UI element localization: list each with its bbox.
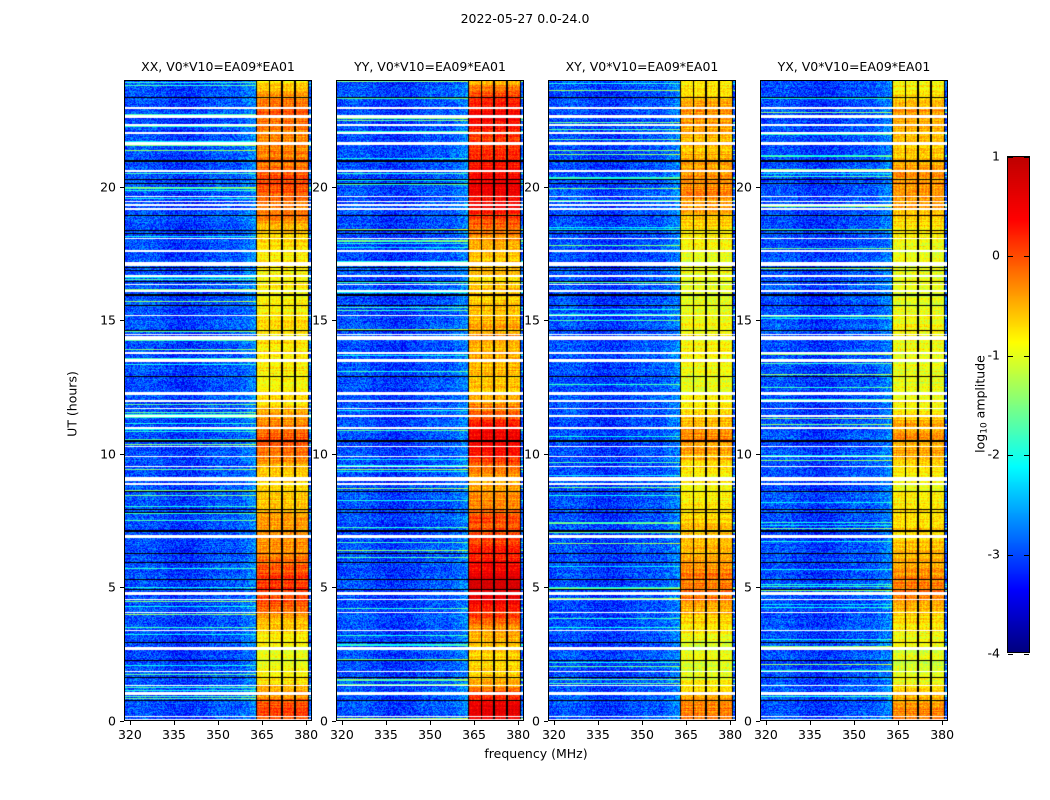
- y-tick-label: 10: [100, 446, 116, 461]
- x-tick-mark: [174, 721, 175, 725]
- colorbar-tick-mark: [1024, 356, 1029, 357]
- x-tick-mark: [598, 721, 599, 725]
- x-tick-mark: [386, 721, 387, 725]
- colorbar-tick-mark: [1008, 555, 1013, 556]
- x-tick-mark: [554, 721, 555, 725]
- panel-title-xy: XY, V0*V10=EA09*EA01: [548, 59, 736, 74]
- x-tick-mark: [686, 721, 687, 725]
- y-tick-label: 20: [100, 179, 116, 194]
- colorbar-tick-label: 0: [992, 248, 1000, 263]
- y-tick-mark: [756, 587, 760, 588]
- x-tick-mark: [766, 721, 767, 725]
- colorbar-tick-mark: [1024, 256, 1029, 257]
- panel-title-yx: YX, V0*V10=EA09*EA01: [760, 59, 948, 74]
- colorbar-tick-mark: [1008, 455, 1013, 456]
- y-tick-mark: [756, 454, 760, 455]
- colorbar: [1007, 156, 1030, 653]
- colorbar-tick-mark: [1008, 157, 1013, 158]
- y-tick-label: 5: [320, 580, 328, 595]
- panel-xx: XX, V0*V10=EA09*EA01 3203353503653800510…: [124, 80, 312, 721]
- colorbar-tick-label: 1: [992, 149, 1000, 164]
- x-tick-mark: [642, 721, 643, 725]
- axes-frame-xy: [548, 80, 736, 721]
- y-tick-label: 20: [736, 179, 752, 194]
- figure-canvas-area: 2022-05-27 0.0-24.0 XX, V0*V10=EA09*EA01…: [0, 0, 1050, 800]
- y-tick-mark: [120, 454, 124, 455]
- y-tick-label: 0: [744, 714, 752, 729]
- y-tick-mark: [332, 587, 336, 588]
- axes-frame-yy: [336, 80, 524, 721]
- y-tick-mark: [332, 454, 336, 455]
- y-tick-mark: [544, 721, 548, 722]
- colorbar-tick-mark: [1024, 555, 1029, 556]
- y-tick-label: 15: [736, 313, 752, 328]
- panel-title-xx: XX, V0*V10=EA09*EA01: [124, 59, 312, 74]
- x-tick-mark: [262, 721, 263, 725]
- colorbar-tick-label: -1: [988, 347, 1000, 362]
- colorbar-tick-label: -2: [988, 447, 1000, 462]
- y-tick-mark: [544, 187, 548, 188]
- y-tick-mark: [332, 721, 336, 722]
- x-tick-mark: [342, 721, 343, 725]
- y-tick-mark: [544, 454, 548, 455]
- x-tick-mark: [898, 721, 899, 725]
- panel-yy: YY, V0*V10=EA09*EA01 3203353503653800510…: [336, 80, 524, 721]
- y-tick-mark: [332, 187, 336, 188]
- figure-suptitle: 2022-05-27 0.0-24.0: [0, 11, 1050, 26]
- panel-title-yy: YY, V0*V10=EA09*EA01: [336, 59, 524, 74]
- y-tick-label: 0: [532, 714, 540, 729]
- y-tick-label: 10: [524, 446, 540, 461]
- y-tick-label: 5: [744, 580, 752, 595]
- colorbar-tick-label: -4: [988, 646, 1000, 661]
- colorbar-tick-mark: [1024, 157, 1029, 158]
- y-tick-label: 20: [524, 179, 540, 194]
- y-tick-label: 0: [320, 714, 328, 729]
- y-tick-label: 15: [100, 313, 116, 328]
- y-tick-label: 20: [312, 179, 328, 194]
- y-tick-label: 5: [532, 580, 540, 595]
- y-tick-mark: [544, 587, 548, 588]
- x-axis-label: frequency (MHz): [124, 746, 948, 761]
- y-tick-mark: [756, 320, 760, 321]
- colorbar-label-sub: 10: [980, 422, 990, 433]
- y-tick-mark: [544, 320, 548, 321]
- y-tick-mark: [756, 721, 760, 722]
- colorbar-tick-mark: [1008, 256, 1013, 257]
- x-tick-mark: [218, 721, 219, 725]
- colorbar-tick-mark: [1008, 654, 1013, 655]
- axes-frame-xx: [124, 80, 312, 721]
- y-tick-mark: [120, 721, 124, 722]
- y-tick-label: 15: [524, 313, 540, 328]
- y-tick-label: 15: [312, 313, 328, 328]
- y-tick-mark: [120, 587, 124, 588]
- y-tick-mark: [120, 187, 124, 188]
- colorbar-tick-label: -3: [988, 546, 1000, 561]
- axes-frame-yx: [760, 80, 948, 721]
- y-tick-mark: [120, 320, 124, 321]
- colorbar-tick-mark: [1024, 455, 1029, 456]
- x-tick-mark: [306, 721, 307, 725]
- x-tick-mark: [810, 721, 811, 725]
- x-tick-mark: [518, 721, 519, 725]
- y-tick-mark: [756, 187, 760, 188]
- colorbar-label: log10 amplitude: [973, 355, 990, 453]
- colorbar-label-tail: amplitude: [973, 355, 988, 422]
- x-tick-mark: [730, 721, 731, 725]
- y-tick-label: 10: [736, 446, 752, 461]
- y-tick-label: 5: [108, 580, 116, 595]
- y-tick-label: 10: [312, 446, 328, 461]
- x-tick-mark: [942, 721, 943, 725]
- x-tick-mark: [474, 721, 475, 725]
- panel-xy: XY, V0*V10=EA09*EA01 3203353503653800510…: [548, 80, 736, 721]
- x-tick-mark: [430, 721, 431, 725]
- colorbar-gradient: [1008, 157, 1029, 652]
- colorbar-tick-mark: [1008, 356, 1013, 357]
- y-axis-label: UT (hours): [65, 371, 80, 437]
- colorbar-tick-mark: [1024, 654, 1029, 655]
- x-tick-mark: [854, 721, 855, 725]
- colorbar-label-main: log: [973, 434, 988, 453]
- y-tick-mark: [332, 320, 336, 321]
- y-tick-label: 0: [108, 714, 116, 729]
- panel-yx: YX, V0*V10=EA09*EA01 3203353503653800510…: [760, 80, 948, 721]
- x-tick-mark: [130, 721, 131, 725]
